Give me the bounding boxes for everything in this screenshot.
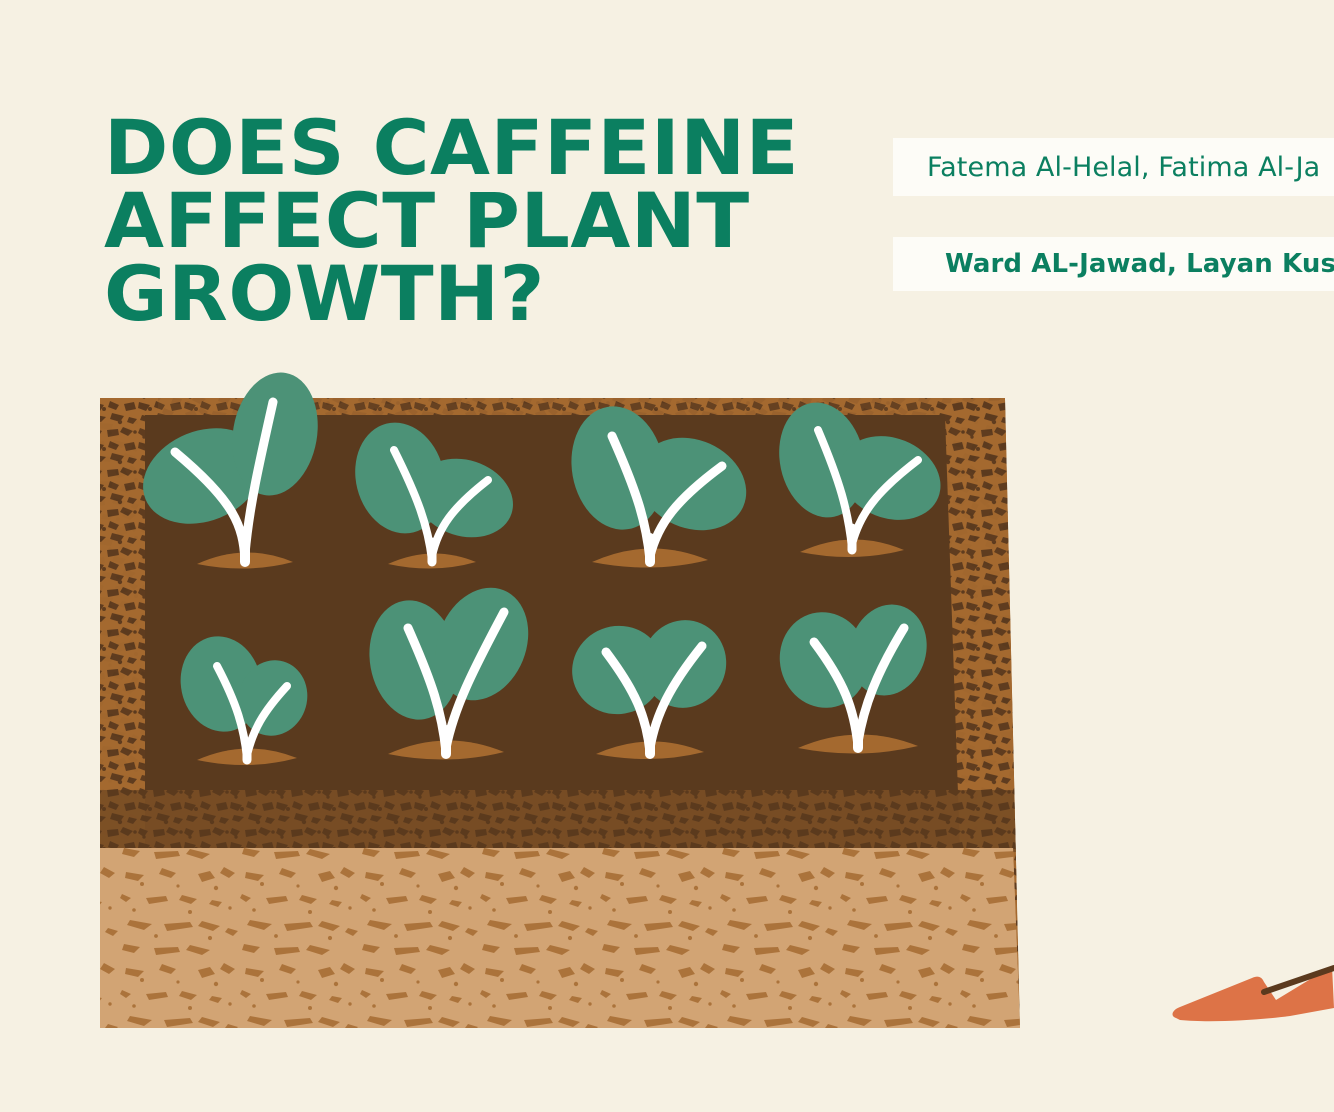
garden-trowel-icon: [1140, 930, 1334, 1050]
seedling-r1c4: [769, 395, 953, 558]
seedling-r1c3: [562, 399, 761, 568]
planter-shadow-band: [100, 790, 1016, 852]
planter-front-panel: [100, 848, 1020, 1028]
seedling-r2c3: [562, 609, 738, 759]
seedling-r1c2: [344, 413, 524, 569]
author-box-line-2: Ward AL-Jawad, Layan Kushe: [893, 237, 1334, 291]
page-title: DOES CAFFEINE AFFECT PLANT GROWTH?: [104, 112, 879, 331]
poster-canvas: DOES CAFFEINE AFFECT PLANT GROWTH? Fatem…: [0, 0, 1334, 1112]
author-names-line-1: Fatema Al-Helal, Fatima Al-Ja: [927, 152, 1320, 183]
seedling-r1c1: [129, 366, 327, 569]
author-box-line-1: Fatema Al-Helal, Fatima Al-Ja: [893, 138, 1334, 196]
planter-rim: [100, 398, 1020, 1028]
seedling-r2c1: [172, 629, 316, 765]
seedling-r2c4: [770, 595, 938, 753]
seedling-r2c2: [360, 574, 544, 760]
author-names-line-2: Ward AL-Jawad, Layan Kushe: [945, 249, 1334, 279]
soil-bed: [145, 415, 960, 852]
title-block: DOES CAFFEINE AFFECT PLANT GROWTH?: [104, 112, 864, 331]
